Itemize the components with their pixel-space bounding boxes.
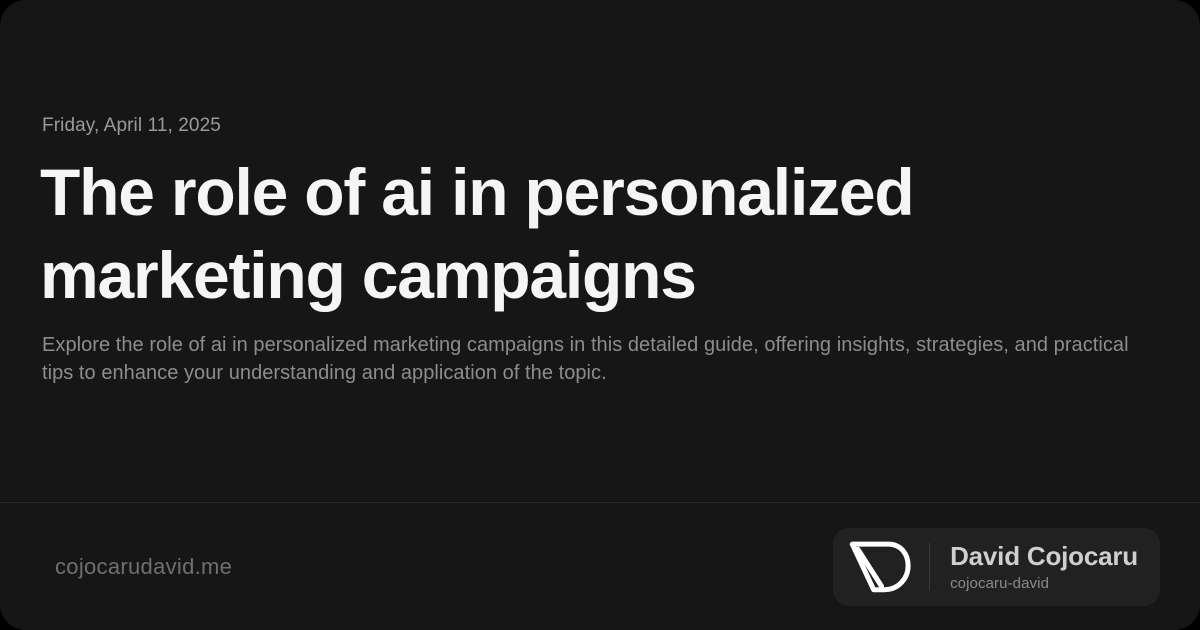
badge-text-group: David Cojocaru cojocaru-david	[950, 541, 1138, 593]
vd-monogram-logo-icon	[849, 541, 911, 593]
card-footer: cojocarudavid.me David Cojocaru cojocaru…	[0, 502, 1200, 630]
page-title: The role of ai in personalized marketing…	[40, 151, 1040, 317]
badge-divider	[929, 543, 930, 591]
author-handle: cojocaru-david	[950, 574, 1138, 593]
post-description: Explore the role of ai in personalized m…	[42, 331, 1147, 387]
author-badge[interactable]: David Cojocaru cojocaru-david	[833, 528, 1160, 606]
post-content: Friday, April 11, 2025 The role of ai in…	[0, 0, 1200, 502]
og-preview-card: Friday, April 11, 2025 The role of ai in…	[0, 0, 1200, 630]
post-date: Friday, April 11, 2025	[42, 115, 1160, 137]
site-url[interactable]: cojocarudavid.me	[55, 554, 232, 580]
author-name: David Cojocaru	[950, 541, 1138, 572]
